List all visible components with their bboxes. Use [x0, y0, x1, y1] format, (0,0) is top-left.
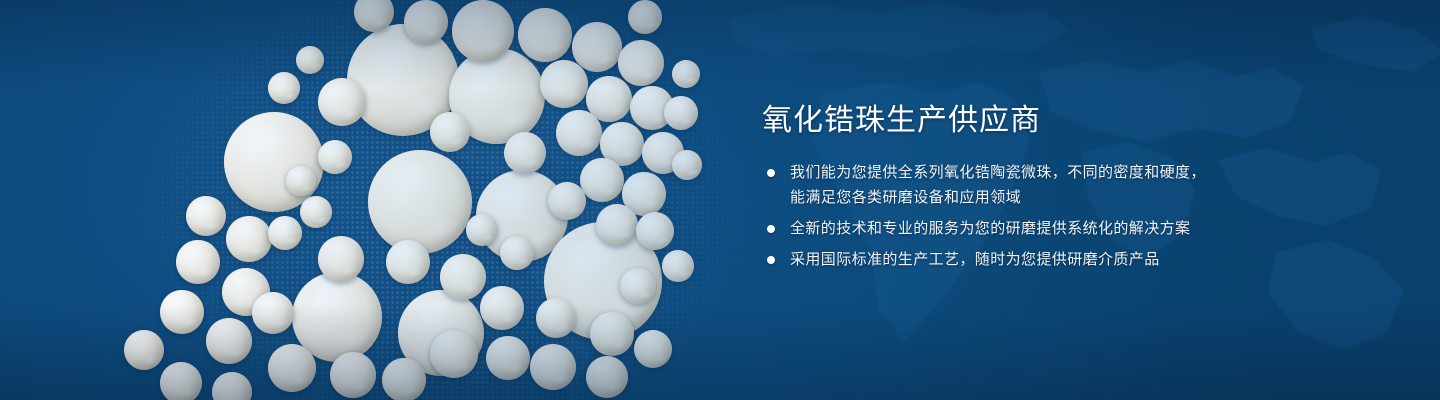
feature-list: 我们能为您提供全系列氧化锆陶瓷微珠，不同的密度和硬度， 能满足您各类研磨设备和应… [762, 160, 1362, 272]
list-item-line: 我们能为您提供全系列氧化锆陶瓷微珠，不同的密度和硬度， [790, 160, 1362, 185]
list-item: 采用国际标准的生产工艺，随时为您提供研磨介质产品 [762, 247, 1362, 272]
hero-banner: 氧化锆珠生产供应商 我们能为您提供全系列氧化锆陶瓷微珠，不同的密度和硬度， 能满… [0, 0, 1440, 400]
list-item: 我们能为您提供全系列氧化锆陶瓷微珠，不同的密度和硬度， 能满足您各类研磨设备和应… [762, 160, 1362, 210]
banner-copy: 氧化锆珠生产供应商 我们能为您提供全系列氧化锆陶瓷微珠，不同的密度和硬度， 能满… [762, 104, 1362, 272]
list-item-line: 全新的技术和专业的服务为您的研磨提供系统化的解决方案 [790, 216, 1362, 241]
list-item: 全新的技术和专业的服务为您的研磨提供系统化的解决方案 [762, 216, 1362, 241]
list-item-line: 采用国际标准的生产工艺，随时为您提供研磨介质产品 [790, 247, 1362, 272]
bullet-dot-icon [767, 169, 775, 177]
page-title: 氧化锆珠生产供应商 [762, 104, 1362, 138]
bullet-dot-icon [767, 256, 775, 264]
bullet-dot-icon [767, 225, 775, 233]
list-item-line: 能满足您各类研磨设备和应用领域 [790, 185, 1362, 210]
